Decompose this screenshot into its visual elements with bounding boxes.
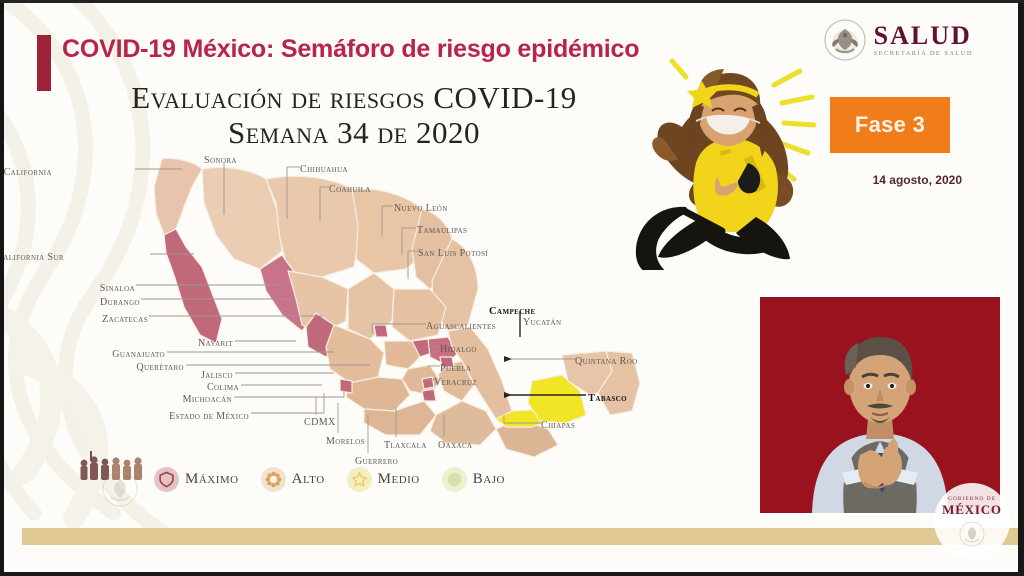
gobierno-de-mexico-watermark: GOBIERNO DE MÉXICO bbox=[934, 483, 1010, 559]
map-label-estado-de-méxico: Estado de México bbox=[169, 411, 249, 422]
map-label-morelos: Morelos bbox=[326, 436, 365, 447]
map-label-yucatán: Yucatán bbox=[523, 317, 561, 328]
map-label-puebla: Puebla bbox=[440, 363, 471, 374]
slide-subtitle: Evaluación de riesgos COVID-19 Semana 34… bbox=[74, 81, 634, 150]
map-label-guanajuato: Guanajuato bbox=[112, 349, 165, 360]
watermark-main-text: MÉXICO bbox=[942, 502, 1002, 518]
mexican-eagle-emblem-icon bbox=[824, 19, 866, 61]
legend-item-alto[interactable]: Alto bbox=[261, 467, 325, 492]
phase-badge: Fase 3 bbox=[830, 97, 950, 153]
map-label-coahuila: Coahuila bbox=[329, 184, 371, 195]
legend-item-medio[interactable]: Medio bbox=[347, 467, 420, 492]
phase-label: Fase 3 bbox=[855, 112, 925, 138]
map-label-sonora: Sonora bbox=[204, 155, 237, 166]
eagle-seal-watermark bbox=[102, 471, 138, 507]
flower-icon bbox=[261, 467, 286, 492]
map-label-san-luis-potosí: San Luis Potosí bbox=[418, 248, 488, 259]
frame-edge-bottom bbox=[0, 572, 1024, 576]
frame-edge-left bbox=[0, 0, 4, 576]
map-label-baja-california-sur: Baja California Sur bbox=[4, 252, 64, 263]
map-label-quintana-roo: Quintana Roo bbox=[575, 356, 638, 367]
title-accent-bar bbox=[37, 35, 51, 91]
map-label-tamaulipas: Tamaulipas bbox=[417, 225, 467, 236]
star-icon bbox=[347, 467, 372, 492]
map-label-guerrero: Guerrero bbox=[355, 456, 398, 467]
legend-label-bajo: Bajo bbox=[473, 471, 505, 488]
map-label-aguascalientes: Aguascalientes bbox=[426, 321, 496, 332]
risk-legend: MáximoAltoMedioBajo bbox=[154, 467, 505, 492]
legend-label-máximo: Máximo bbox=[185, 471, 239, 488]
map-label-chiapas: Chiapas bbox=[541, 420, 575, 431]
map-label-jalisco: Jalisco bbox=[201, 370, 233, 381]
map-label-cdmx: CDMX bbox=[304, 417, 336, 428]
map-label-tlaxcala: Tlaxcala bbox=[384, 440, 427, 451]
salud-logo: SALUD SECRETARÍA DE SALUD bbox=[824, 19, 973, 61]
salud-wordmark: SALUD bbox=[874, 23, 973, 49]
covid-character-illustration bbox=[624, 55, 824, 270]
map-label-chihuahua: Chihuahua bbox=[300, 164, 348, 175]
frame-edge-top bbox=[0, 0, 1024, 3]
page-title: COVID-19 México: Semáforo de riesgo epid… bbox=[62, 35, 702, 64]
shield-icon bbox=[154, 467, 179, 492]
legend-label-alto: Alto bbox=[292, 471, 325, 488]
legend-item-máximo[interactable]: Máximo bbox=[154, 467, 239, 492]
map-label-hidalgo: Hidalgo bbox=[440, 344, 477, 355]
map-label-durango: Durango bbox=[100, 297, 140, 308]
map-label-michoacán: Michoacán bbox=[183, 394, 232, 405]
map-label-oaxaca: Oaxaca bbox=[438, 440, 473, 451]
bottom-accent-bar bbox=[22, 528, 1018, 545]
map-label-zacatecas: Zacatecas bbox=[102, 314, 148, 325]
phase-date: 14 agosto, 2020 bbox=[873, 173, 962, 187]
circle-icon bbox=[442, 467, 467, 492]
legend-label-medio: Medio bbox=[378, 471, 420, 488]
map-label-tabasco: Tabasco bbox=[588, 393, 627, 404]
map-label-campeche: Campeche bbox=[489, 306, 536, 317]
map-label-sinaloa: Sinaloa bbox=[100, 283, 135, 294]
map-label-nayarit: Nayarit bbox=[198, 338, 233, 349]
mexican-eagle-seal-icon bbox=[959, 521, 985, 547]
map-label-colima: Colima bbox=[207, 382, 239, 393]
frame-edge-right bbox=[1018, 0, 1024, 576]
subtitle-line-2: Semana 34 de 2020 bbox=[74, 116, 634, 151]
sign-language-interpreter-video[interactable] bbox=[760, 297, 1000, 513]
presentation-slide: COVID-19 México: Semáforo de riesgo epid… bbox=[4, 3, 1018, 569]
screenshot-stage: COVID-19 México: Semáforo de riesgo epid… bbox=[0, 0, 1024, 576]
salud-subtitle: SECRETARÍA DE SALUD bbox=[874, 51, 973, 58]
map-label-veracruz: Veracruz bbox=[434, 377, 477, 388]
subtitle-line-1: Evaluación de riesgos COVID-19 bbox=[74, 81, 634, 116]
map-label-baja-california: Baja California bbox=[4, 167, 52, 178]
legend-item-bajo[interactable]: Bajo bbox=[442, 467, 505, 492]
map-label-nuevo-león: Nuevo León bbox=[394, 203, 448, 214]
map-label-querétaro: Querétaro bbox=[136, 362, 184, 373]
